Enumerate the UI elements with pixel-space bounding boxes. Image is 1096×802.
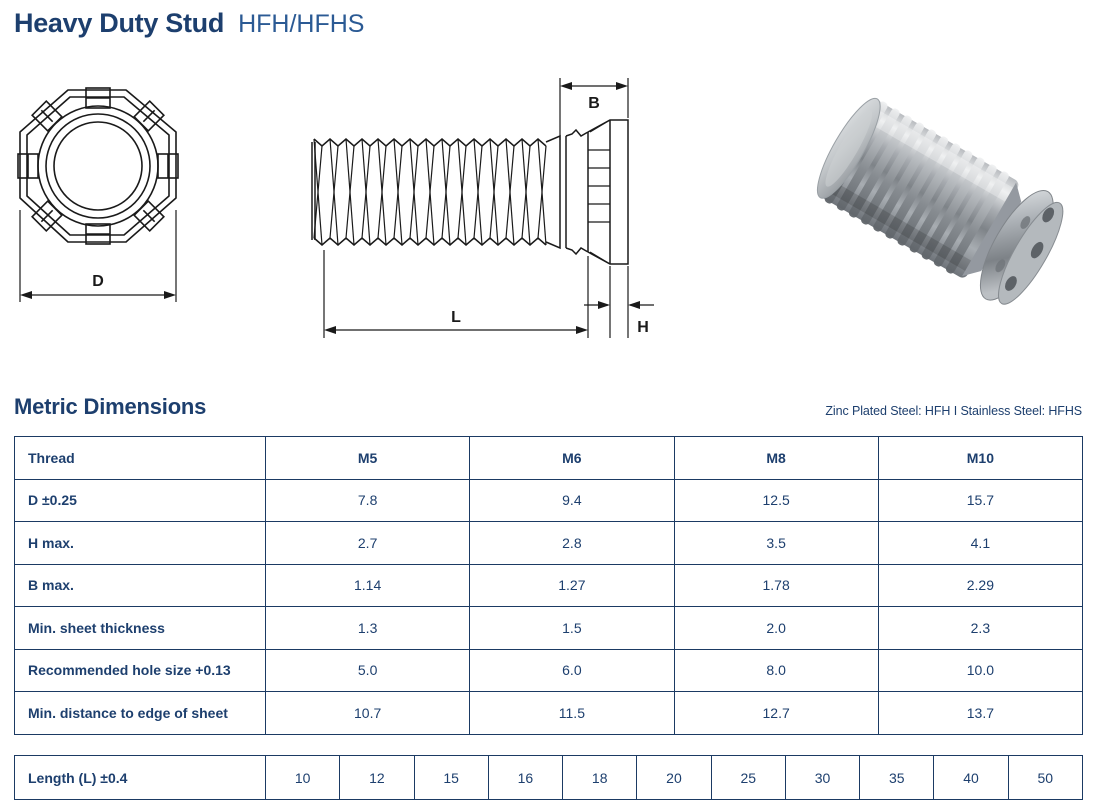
table-header-row: Thread M5 M6 M8 M10 xyxy=(15,437,1083,480)
datasheet-page: Heavy Duty Stud HFH/HFHS xyxy=(0,0,1096,802)
length-table: Length (L) ±0.4 10 12 15 16 18 20 25 30 … xyxy=(14,755,1083,800)
cell-length: 35 xyxy=(860,756,934,800)
cell-value: 1.14 xyxy=(266,564,470,607)
cell-value: 10.0 xyxy=(878,649,1082,692)
cell-value: 12.7 xyxy=(674,692,878,735)
cell-value: 3.5 xyxy=(674,522,878,565)
table-row: B max. 1.14 1.27 1.78 2.29 xyxy=(15,564,1083,607)
cell-length: 30 xyxy=(785,756,859,800)
cell-value: 9.4 xyxy=(470,479,674,522)
cell-value: 11.5 xyxy=(470,692,674,735)
cell-value: 1.5 xyxy=(470,607,674,650)
head-top-view-drawing: D xyxy=(6,70,206,355)
cell-length: 12 xyxy=(340,756,414,800)
cell-value: 2.3 xyxy=(878,607,1082,650)
cell-value: 2.0 xyxy=(674,607,878,650)
dimension-label-h: H xyxy=(637,319,649,336)
row-label: Min. distance to edge of sheet xyxy=(15,692,266,735)
cell-value: 4.1 xyxy=(878,522,1082,565)
metric-dimensions-table: Thread M5 M6 M8 M10 D ±0.25 7.8 9.4 12.5… xyxy=(14,436,1083,735)
material-note: Zinc Plated Steel: HFH I Stainless Steel… xyxy=(825,404,1082,418)
cell-value: 8.0 xyxy=(674,649,878,692)
cell-value: 15.7 xyxy=(878,479,1082,522)
row-label: H max. xyxy=(15,522,266,565)
page-title: Heavy Duty Stud HFH/HFHS xyxy=(14,8,364,39)
cell-length: 25 xyxy=(711,756,785,800)
cell-value: 1.27 xyxy=(470,564,674,607)
row-label: B max. xyxy=(15,564,266,607)
section-heading: Metric Dimensions xyxy=(14,394,206,420)
table-row: H max. 2.7 2.8 3.5 4.1 xyxy=(15,522,1083,565)
table-row: Recommended hole size +0.13 5.0 6.0 8.0 … xyxy=(15,649,1083,692)
table-row: Length (L) ±0.4 10 12 15 16 18 20 25 30 … xyxy=(15,756,1083,800)
dimension-label-l: L xyxy=(451,309,461,326)
cell-value: 13.7 xyxy=(878,692,1082,735)
cell-length: 20 xyxy=(637,756,711,800)
cell-length: 15 xyxy=(414,756,488,800)
row-label: Min. sheet thickness xyxy=(15,607,266,650)
table-row: Min. sheet thickness 1.3 1.5 2.0 2.3 xyxy=(15,607,1083,650)
page-title-part-codes: HFH/HFHS xyxy=(238,10,364,39)
row-label: D ±0.25 xyxy=(15,479,266,522)
row-label-length: Length (L) ±0.4 xyxy=(15,756,266,800)
cell-value: 10.7 xyxy=(266,692,470,735)
cell-value: 2.7 xyxy=(266,522,470,565)
dimension-label-b: B xyxy=(588,95,600,112)
column-header-m8: M8 xyxy=(674,437,878,480)
row-label: Recommended hole size +0.13 xyxy=(15,649,266,692)
cell-value: 1.78 xyxy=(674,564,878,607)
figures-band: D xyxy=(0,60,1096,360)
column-header-m6: M6 xyxy=(470,437,674,480)
cell-length: 50 xyxy=(1008,756,1082,800)
cell-value: 2.8 xyxy=(470,522,674,565)
cell-value: 7.8 xyxy=(266,479,470,522)
cell-length: 18 xyxy=(563,756,637,800)
cell-value: 2.29 xyxy=(878,564,1082,607)
column-header-m10: M10 xyxy=(878,437,1082,480)
dimension-label-d: D xyxy=(92,273,104,290)
stud-product-photo xyxy=(790,85,1080,345)
cell-length: 40 xyxy=(934,756,1008,800)
column-header-m5: M5 xyxy=(266,437,470,480)
stud-side-view-drawing: B L H xyxy=(298,60,668,350)
table-row: Min. distance to edge of sheet 10.7 11.5… xyxy=(15,692,1083,735)
cell-length: 10 xyxy=(266,756,340,800)
cell-length: 16 xyxy=(488,756,562,800)
page-title-main: Heavy Duty Stud xyxy=(14,8,224,39)
cell-value: 12.5 xyxy=(674,479,878,522)
cell-value: 5.0 xyxy=(266,649,470,692)
cell-value: 1.3 xyxy=(266,607,470,650)
column-header-thread: Thread xyxy=(15,437,266,480)
cell-value: 6.0 xyxy=(470,649,674,692)
table-row: D ±0.25 7.8 9.4 12.5 15.7 xyxy=(15,479,1083,522)
